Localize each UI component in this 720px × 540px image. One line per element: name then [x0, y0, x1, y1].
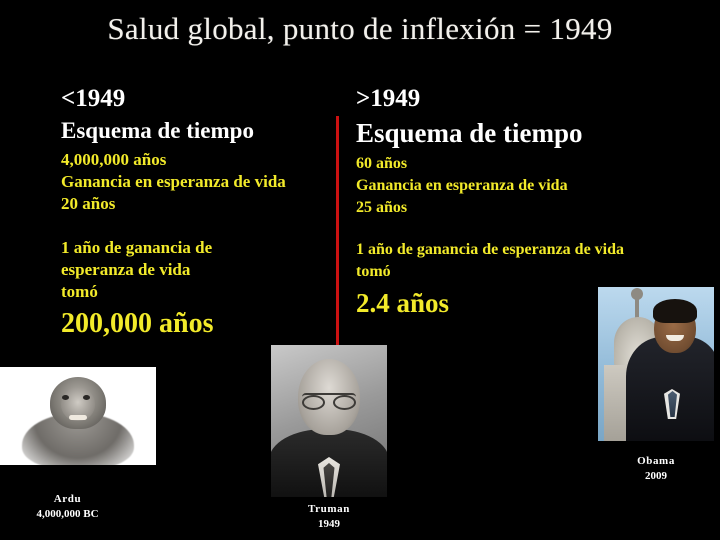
photo-card-truman: Truman 1949 — [271, 345, 387, 532]
left-spacer — [61, 215, 333, 237]
caption-ardu-name: Ardu — [54, 493, 81, 505]
caption-truman: Truman 1949 — [271, 502, 387, 532]
left-line-2: Ganancia en esperanza de vida — [61, 171, 333, 193]
ardi-eye-right — [83, 395, 90, 400]
left-took-line-3: tomó — [61, 281, 333, 303]
era-label-right: >1949 — [356, 84, 706, 114]
era-label-left: <1949 — [61, 84, 333, 114]
ardi-mouth-shape — [69, 415, 87, 420]
slide-canvas: Salud global, punto de inflexión = 1949 … — [0, 0, 720, 540]
left-took-line-1: 1 año de ganancia de — [61, 237, 333, 259]
obama-capitol-photo — [598, 287, 714, 441]
left-big-number: 200,000 años — [61, 306, 333, 342]
caption-truman-name: Truman — [308, 503, 350, 515]
photo-card-obama: Obama 2009 — [598, 287, 714, 484]
left-line-3: 20 años — [61, 193, 333, 215]
ardi-figure-icon — [19, 373, 137, 465]
left-took-line-2: esperanza de vida — [61, 259, 333, 281]
left-line-1: 4,000,000 años — [61, 149, 333, 171]
right-line-2: Ganancia en esperanza de vida — [356, 175, 706, 197]
ardi-eye-left — [62, 395, 69, 400]
caption-obama-year: 2009 — [645, 470, 667, 482]
caption-ardu: Ardu 4,000,000 BC — [0, 492, 135, 522]
column-after-1949: >1949 Esquema de tiempo 60 años Ganancia… — [356, 84, 706, 320]
truman-portrait-photo — [271, 345, 387, 497]
right-line-1: 60 años — [356, 153, 706, 175]
scheme-label-right: Esquema de tiempo — [356, 117, 706, 149]
caption-obama: Obama 2009 — [598, 454, 714, 484]
caption-obama-name: Obama — [637, 455, 675, 467]
right-line-3: 25 años — [356, 197, 706, 219]
right-spacer — [356, 219, 706, 239]
column-before-1949: <1949 Esquema de tiempo 4,000,000 años G… — [61, 84, 333, 342]
caption-truman-year: 1949 — [318, 518, 340, 530]
right-took-line-2: tomó — [356, 261, 706, 283]
scheme-label-left: Esquema de tiempo — [61, 117, 333, 145]
page-title: Salud global, punto de inflexión = 1949 — [0, 10, 720, 48]
caption-ardu-year: 4,000,000 BC — [36, 508, 98, 520]
right-took-line-1: 1 año de ganancia de esperanza de vida — [356, 239, 706, 261]
ardi-hominid-illustration — [0, 367, 156, 465]
glasses-icon — [302, 393, 356, 407]
photo-card-ardu: Ardu 4,000,000 BC — [0, 367, 156, 522]
obama-hair-shape — [653, 299, 697, 323]
red-divider-line — [336, 116, 339, 346]
